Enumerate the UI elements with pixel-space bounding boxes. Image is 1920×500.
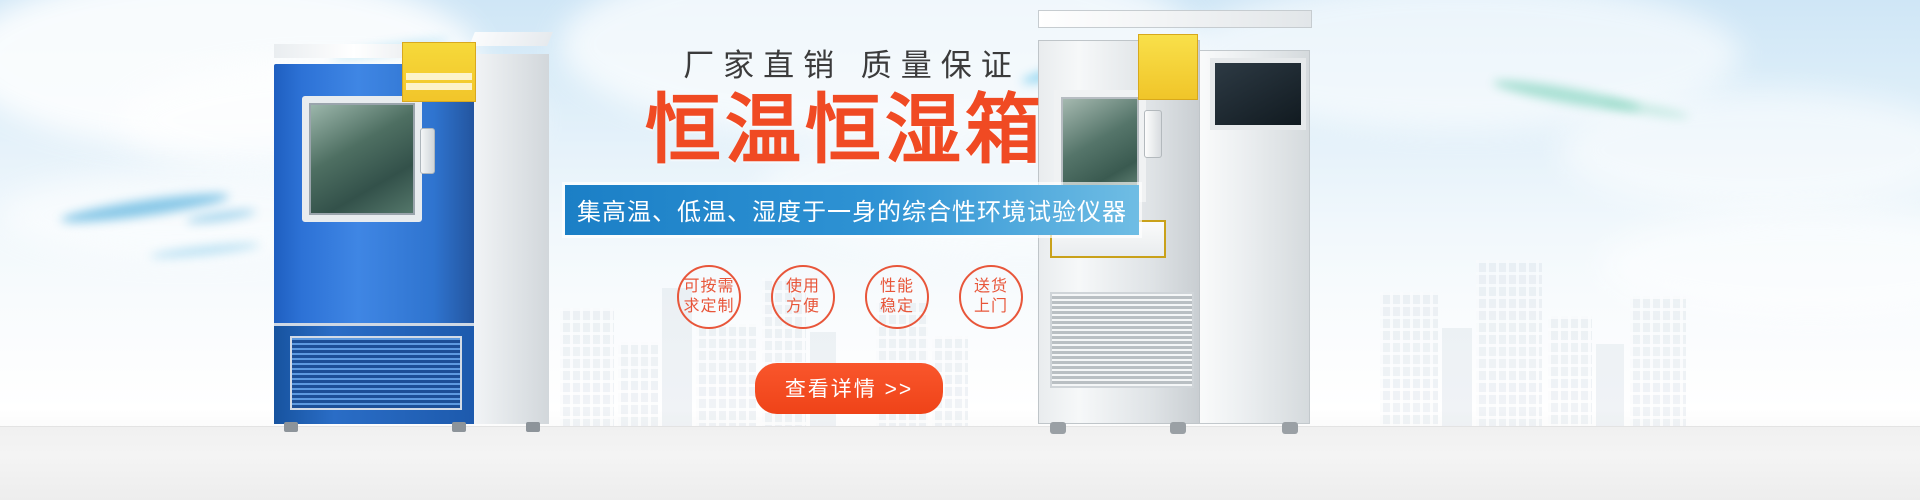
warning-label [1138, 34, 1198, 100]
feature-badge-1-line2: 求定制 [683, 297, 734, 317]
banner-content: 厂家直销 质量保证 恒温恒湿箱 集高温、低温、湿度于一身的综合性环境试验仪器 可… [565, 40, 1125, 470]
feature-badge-4-line2: 上门 [974, 297, 1008, 317]
banner-headline: 厂家直销 质量保证 [565, 40, 1125, 85]
feature-badge-1-line1: 可按需 [683, 277, 734, 297]
chamber-window [302, 96, 422, 222]
promo-banner: 厂家直销 质量保证 恒温恒湿箱 集高温、低温、湿度于一身的综合性环境试验仪器 可… [0, 0, 1920, 500]
feature-badge-3-line1: 性能 [880, 277, 914, 297]
feature-badge-list: 可按需 求定制 使用 方便 性能 稳定 送货 上门 [565, 265, 1125, 329]
warning-label [402, 42, 476, 102]
view-details-button[interactable]: 查看详情 >> [755, 363, 943, 414]
feature-badge-4[interactable]: 送货 上门 [959, 265, 1023, 329]
cta-container: 查看详情 >> [565, 363, 1125, 414]
feature-badge-1[interactable]: 可按需 求定制 [677, 265, 741, 329]
banner-title: 恒温恒湿箱 [565, 89, 1125, 173]
vent-grill [290, 336, 462, 410]
feature-badge-4-line1: 送货 [974, 277, 1008, 297]
control-screen [1210, 58, 1306, 130]
chamber-handle [420, 128, 435, 174]
subtitle-container: 集高温、低温、湿度于一身的综合性环境试验仪器 [565, 185, 1125, 235]
feature-badge-2-line1: 使用 [786, 277, 820, 297]
product-image-left [250, 44, 550, 424]
banner-subtitle: 集高温、低温、湿度于一身的综合性环境试验仪器 [565, 185, 1139, 235]
feature-badge-3-line2: 稳定 [880, 297, 914, 317]
feature-badge-2[interactable]: 使用 方便 [771, 265, 835, 329]
feature-badge-2-line2: 方便 [786, 297, 820, 317]
chamber-handle [1144, 110, 1162, 158]
feature-badge-3[interactable]: 性能 稳定 [865, 265, 929, 329]
